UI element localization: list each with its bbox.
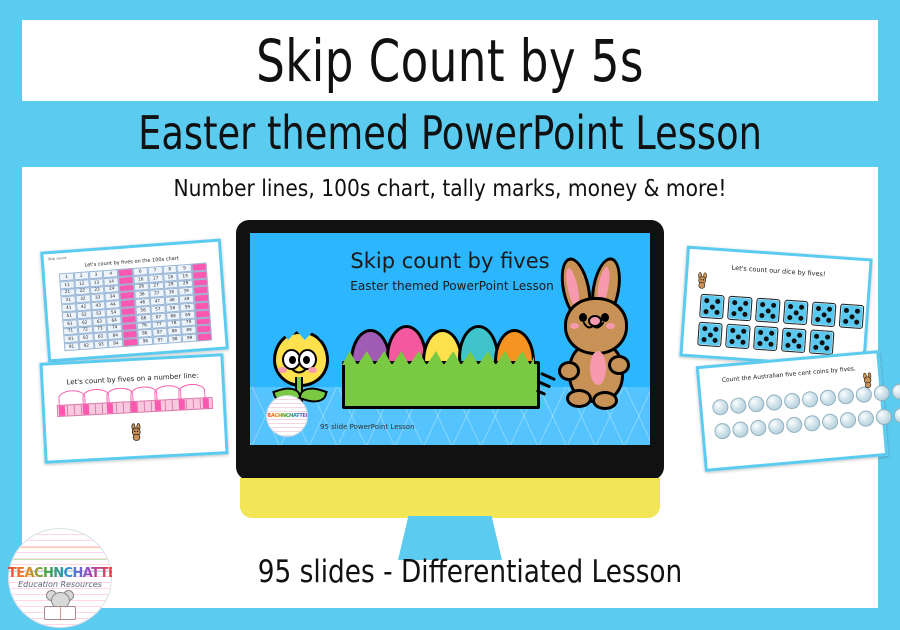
die [839, 303, 865, 329]
coin [819, 389, 836, 406]
number-line-mark [59, 406, 66, 416]
number-line-tick [144, 401, 146, 411]
die [811, 302, 837, 328]
die [699, 294, 725, 320]
chart-cell: 93 [93, 340, 108, 349]
coin [803, 415, 820, 432]
number-line-hop [178, 383, 206, 399]
die [697, 322, 723, 348]
preview-card-dice[interactable]: Let's count our dice by fives! [679, 246, 872, 370]
product-cover: Skip Count by 5s Easter themed PowerPoin… [0, 0, 900, 630]
coin [873, 384, 890, 401]
slide-logo: TEACHNCHATTER [266, 395, 308, 437]
coin [857, 410, 874, 427]
coin [768, 418, 785, 435]
brand-tagline: Education Resources [8, 580, 112, 589]
die [809, 329, 835, 355]
coin [714, 422, 731, 439]
die [727, 296, 753, 322]
die [781, 328, 807, 354]
coin [891, 383, 900, 400]
coin [875, 408, 892, 425]
bunny-icon [129, 423, 144, 442]
number-line-tick [172, 400, 174, 410]
footer-text: 95 slides - Differentiated Lesson [173, 550, 768, 594]
bunny-icon [695, 271, 709, 289]
preview-card-number-line[interactable]: Let's count by fives on a number line: [39, 353, 228, 463]
die [725, 324, 751, 350]
number-line-tick [193, 399, 195, 409]
die [783, 300, 809, 326]
page-subtitle: Easter themed PowerPoint Lesson [108, 101, 793, 165]
number-line-mark [131, 402, 138, 412]
coin [732, 421, 749, 438]
tulip-flower-icon [270, 331, 326, 403]
hundreds-grid: 1234567891011121314151617181920212223242… [59, 263, 212, 352]
chart-cell: 100 [197, 333, 212, 342]
coin [766, 394, 783, 411]
slide-logo-text: TEACHNCHATTER [266, 413, 308, 419]
number-line-mark [155, 401, 162, 411]
coin [783, 392, 800, 409]
number-line-tick [200, 399, 202, 409]
number-line-tick [165, 400, 167, 410]
number-line-tick [186, 399, 188, 409]
monitor-base [240, 478, 660, 518]
number-line-mark [107, 403, 114, 413]
slide-preview[interactable]: Skip count by fives Easter themed PowerP… [250, 233, 650, 445]
bunny-icon [861, 372, 874, 389]
brand-logo[interactable]: TEACHNCHATTER Education Resources [8, 528, 112, 628]
preview-card-coins[interactable]: Count the Australian five cent coins by … [696, 350, 889, 472]
coin [893, 407, 900, 424]
chart-cell: 91 [64, 342, 79, 351]
grass [342, 361, 540, 409]
chart-cell: 98 [167, 335, 182, 344]
number-line-tick [116, 403, 118, 413]
feature-list: Number lines, 100s chart, tally marks, m… [73, 172, 826, 206]
dice-row [697, 322, 834, 355]
die [753, 326, 779, 352]
number-line-tick [102, 404, 104, 414]
coin [839, 411, 856, 428]
chart-cell: 96 [138, 337, 153, 346]
monitor: Skip count by fives Easter themed PowerP… [236, 220, 664, 480]
number-line-mark [179, 399, 186, 409]
die [755, 298, 781, 324]
chart-cell: 95 [123, 338, 138, 347]
slide-footnote: 95 slide PowerPoint Lesson [320, 423, 415, 431]
coin [730, 397, 747, 414]
chart-cell: 92 [79, 341, 94, 350]
number-line-mark [83, 404, 90, 414]
koala-reading-book-icon [42, 590, 76, 620]
number-line-mark [203, 398, 210, 408]
chart-cell: 97 [153, 336, 168, 345]
coin [712, 399, 729, 416]
preview-card-hundreds-chart[interactable]: Skip count Let's count by fives on the 1… [40, 239, 229, 363]
chart-cell: 94 [108, 339, 123, 348]
card-title: Let's count our dice by fives! [688, 261, 868, 282]
coin [750, 419, 767, 436]
number-line-tick [74, 405, 76, 415]
coin [801, 391, 818, 408]
coin [786, 416, 803, 433]
chart-corner-label: Skip count [48, 257, 67, 262]
number-line-tick [67, 405, 69, 415]
coin [821, 413, 838, 430]
brand-name: TEACHNCHATTER [8, 566, 112, 581]
number-line-tick [95, 404, 97, 414]
number-line-tick [151, 401, 153, 411]
bunny-icon [546, 257, 642, 407]
page-title: Skip Count by 5s [116, 20, 784, 101]
coin [748, 395, 765, 412]
card-title: Count the Australian five cent coins by … [700, 363, 878, 385]
chart-cell: 99 [182, 334, 197, 343]
number-line-tick [123, 403, 125, 413]
coin [837, 388, 854, 405]
